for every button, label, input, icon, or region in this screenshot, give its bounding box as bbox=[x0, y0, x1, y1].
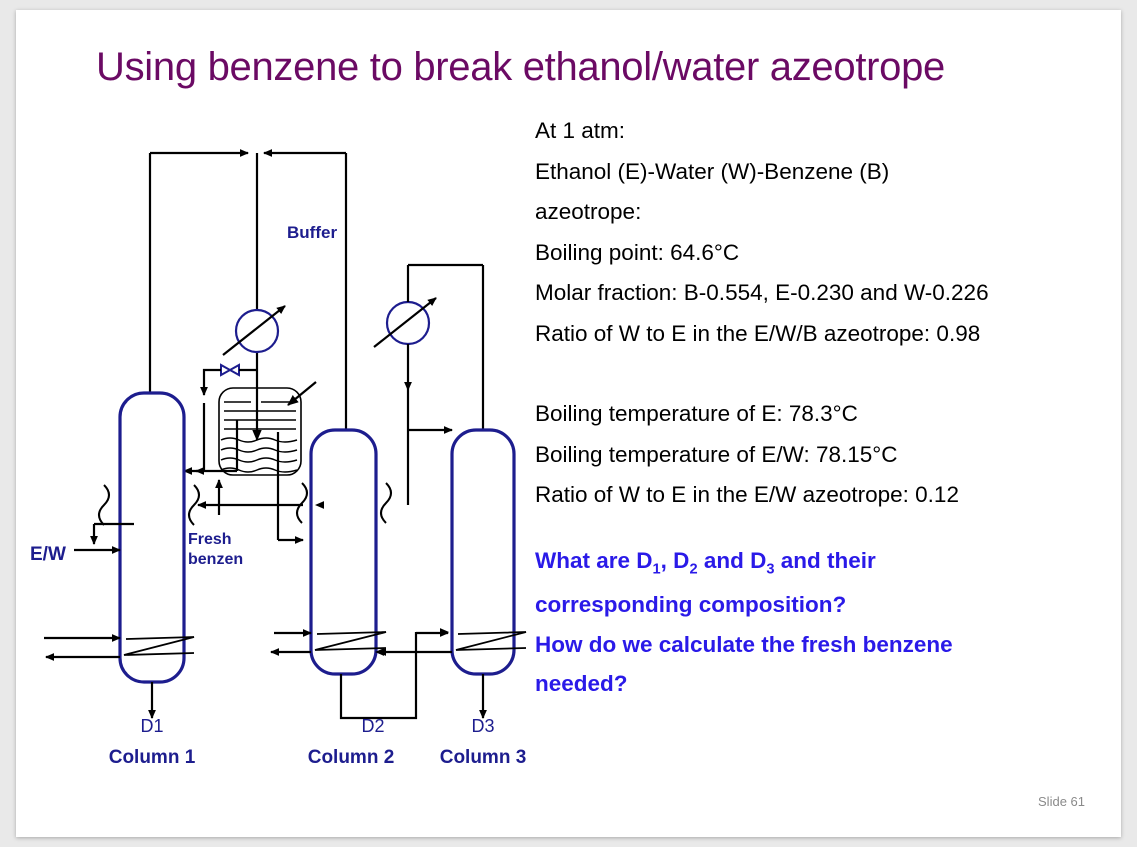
facts2-line-0: Boiling temperature of E: 78.3°C bbox=[535, 403, 1121, 426]
page-title: Using benzene to break ethanol/water aze… bbox=[96, 46, 1076, 89]
facts-line-2: Boiling point: 64.6°C bbox=[535, 242, 1121, 265]
stream-label-d2: D2 bbox=[361, 716, 384, 736]
question-2-line-2: needed? bbox=[535, 673, 1121, 696]
stream-label-d1: D1 bbox=[140, 716, 163, 736]
tray-mark-right-1 bbox=[189, 485, 199, 525]
question-2-line-1: How do we calculate the fresh benzene bbox=[535, 634, 1121, 657]
tray-mark-right-2 bbox=[381, 483, 391, 523]
column-3 bbox=[452, 430, 526, 674]
fresh-benzene-label-line2: benzen bbox=[188, 551, 243, 568]
facts-heading: At 1 atm: bbox=[535, 120, 1121, 143]
facts2-line-2: Ratio of W to E in the E/W azeotrope: 0.… bbox=[535, 484, 1121, 507]
question-1-line-1: What are D1, D2 and D3 and their bbox=[535, 550, 1121, 577]
column-2 bbox=[311, 430, 386, 674]
buffer-tank bbox=[219, 375, 316, 540]
pipe-valve-to-reflux bbox=[204, 370, 221, 395]
facts-spacer bbox=[535, 363, 1121, 403]
column-1 bbox=[120, 393, 194, 682]
q1-part-a: What are D bbox=[535, 548, 653, 573]
slide-canvas: Using benzene to break ethanol/water aze… bbox=[16, 10, 1121, 837]
q1-sub-1: 1 bbox=[653, 562, 661, 578]
reflux-valve bbox=[221, 365, 239, 375]
pfd-svg: Buffer E/W Fresh benzen D1 D2 D3 Column … bbox=[16, 120, 536, 800]
questions-block: What are D1, D2 and D3 and their corresp… bbox=[535, 550, 1121, 713]
slide-frame: Using benzene to break ethanol/water aze… bbox=[0, 0, 1137, 847]
question-1-line-2: corresponding composition? bbox=[535, 594, 1121, 617]
condenser-1 bbox=[223, 306, 285, 355]
facts-block: At 1 atm: Ethanol (E)-Water (W)-Benzene … bbox=[535, 120, 1121, 525]
q1-part-b: , D bbox=[661, 548, 690, 573]
facts-line-1: azeotrope: bbox=[535, 201, 1121, 224]
facts-line-4: Ratio of W to E in the E/W/B azeotrope: … bbox=[535, 323, 1121, 346]
condenser-2 bbox=[374, 298, 436, 347]
column-label-1: Column 1 bbox=[109, 747, 196, 768]
stream-label-d3: D3 bbox=[471, 716, 494, 736]
facts-line-0: Ethanol (E)-Water (W)-Benzene (B) bbox=[535, 161, 1121, 184]
buffer-label: Buffer bbox=[287, 223, 337, 242]
column-label-3: Column 3 bbox=[440, 747, 527, 768]
facts2-line-1: Boiling temperature of E/W: 78.15°C bbox=[535, 444, 1121, 467]
q1-sub-2: 2 bbox=[689, 562, 697, 578]
slide-number: Slide 61 bbox=[1038, 794, 1085, 809]
fresh-benzene-label-line1: Fresh bbox=[188, 531, 232, 548]
column-label-2: Column 2 bbox=[308, 747, 395, 768]
q1-part-c: and D bbox=[698, 548, 767, 573]
feed-label-ew: E/W bbox=[30, 544, 66, 565]
process-flow-diagram: Buffer E/W Fresh benzen D1 D2 D3 Column … bbox=[16, 120, 536, 800]
facts-line-3: Molar fraction: B-0.554, E-0.230 and W-0… bbox=[535, 282, 1121, 305]
q1-part-d: and their bbox=[774, 548, 875, 573]
tray-mark-left-2 bbox=[297, 483, 307, 523]
tray-mark-left-1 bbox=[99, 485, 109, 525]
